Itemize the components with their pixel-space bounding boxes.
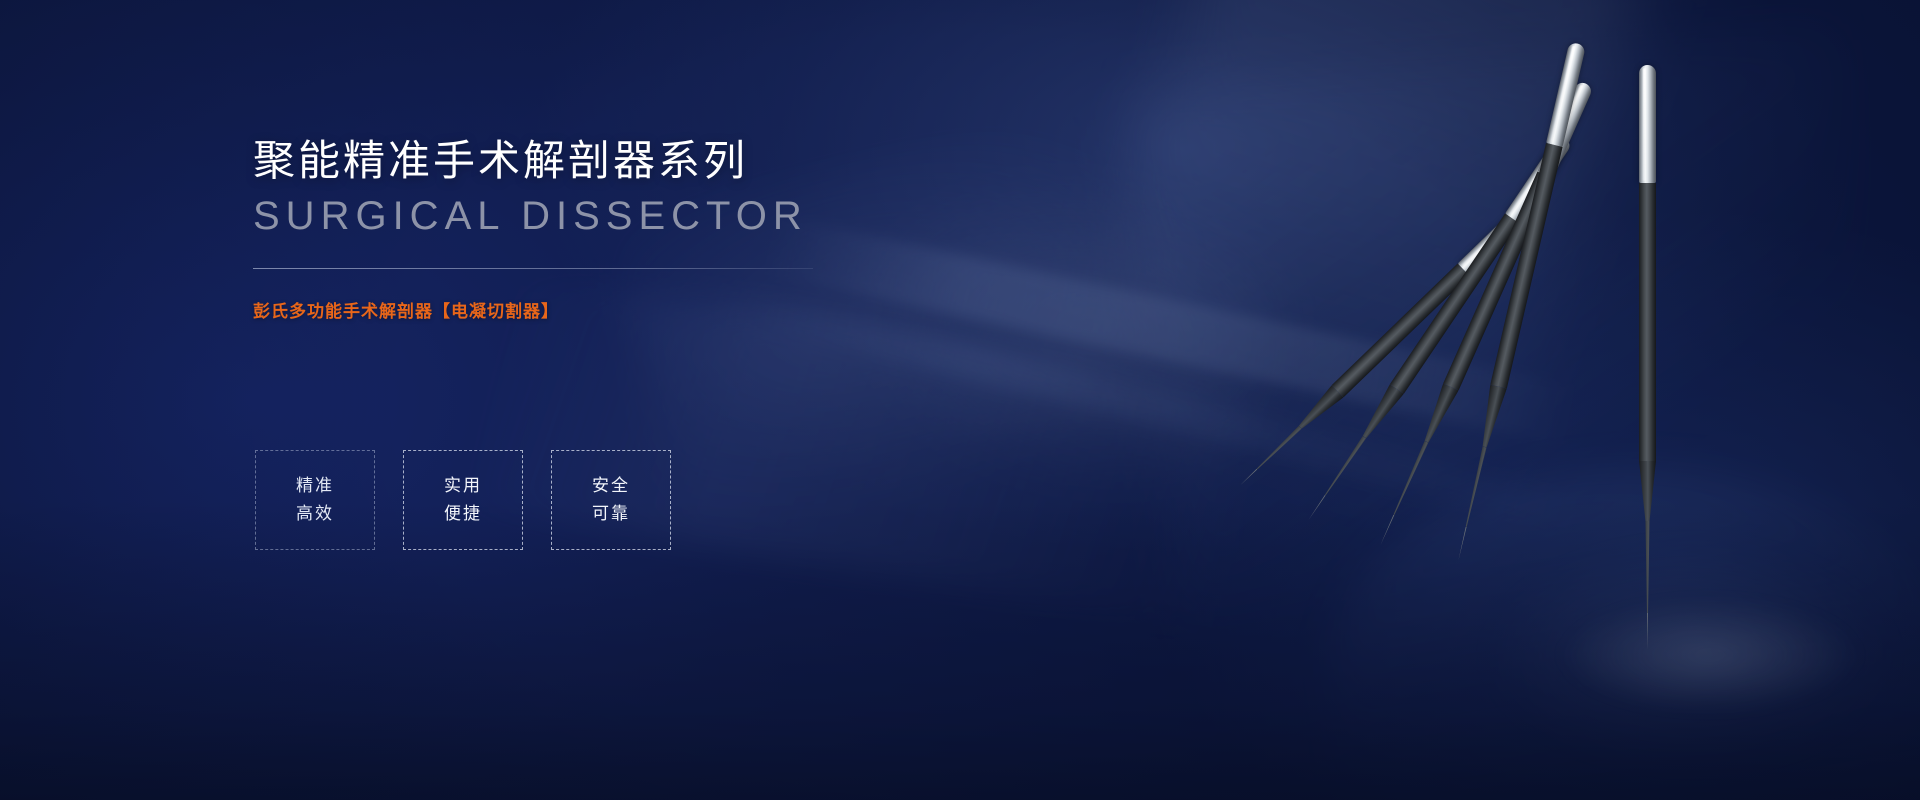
feature-box-2[interactable]: 实用 便捷 [403, 450, 523, 550]
feature-box-2-line2: 便捷 [444, 500, 482, 528]
page-title: 聚能精准手术解剖器系列 [253, 136, 873, 186]
banner-stage: 聚能精准手术解剖器系列 SURGICAL DISSECTOR 彭氏多功能手术解剖… [0, 0, 1920, 800]
feature-box-3[interactable]: 安全 可靠 [551, 450, 671, 550]
feature-box-1-line1: 精准 [296, 472, 334, 500]
feature-box-3-line1: 安全 [592, 472, 630, 500]
feature-box-1-line2: 高效 [296, 500, 334, 528]
page-subtitle-en: SURGICAL DISSECTOR [253, 194, 873, 238]
banner-text-block: 聚能精准手术解剖器系列 SURGICAL DISSECTOR 彭氏多功能手术解剖… [253, 136, 873, 322]
feature-box-group: 精准 高效 实用 便捷 安全 可靠 [255, 450, 671, 550]
banner-content: 聚能精准手术解剖器系列 SURGICAL DISSECTOR 彭氏多功能手术解剖… [0, 0, 1920, 800]
product-name-label: 彭氏多功能手术解剖器【电凝切割器】 [253, 297, 873, 322]
feature-box-1[interactable]: 精准 高效 [255, 450, 375, 550]
divider [253, 268, 813, 269]
feature-box-3-line2: 可靠 [592, 500, 630, 528]
feature-box-2-line1: 实用 [444, 472, 482, 500]
